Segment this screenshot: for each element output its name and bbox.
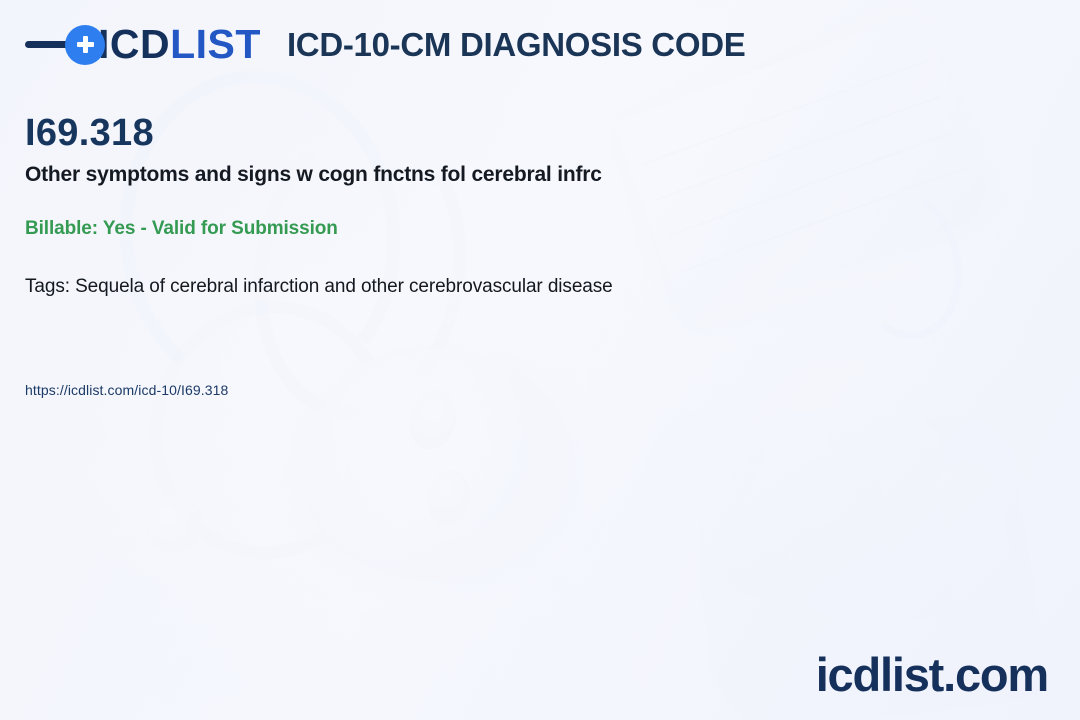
brand-wordmark-list: LIST <box>170 21 261 67</box>
footer-brand: icdlist.com <box>816 651 1048 698</box>
page-title: ICD-10-CM DIAGNOSIS CODE <box>287 26 746 64</box>
tags-line: Tags: Sequela of cerebral infarction and… <box>25 276 613 298</box>
brand-wordmark-icd: ICD <box>98 21 170 67</box>
diagnosis-description: Other symptoms and signs w cogn fnctns f… <box>25 163 613 187</box>
diagnosis-code-block: I69.318 Other symptoms and signs w cogn … <box>25 114 613 298</box>
diagnosis-code: I69.318 <box>25 114 613 154</box>
billable-status: Billable: Yes - Valid for Submission <box>25 218 613 240</box>
plus-circle-icon <box>65 25 105 65</box>
brand-wordmark: ICDLIST <box>98 24 261 65</box>
code-url[interactable]: https://icdlist.com/icd-10/I69.318 <box>25 382 228 398</box>
plus-vertical-bar <box>83 36 88 53</box>
page-header: ICDLIST ICD-10-CM DIAGNOSIS CODE <box>25 24 745 65</box>
icdlist-logo[interactable]: ICDLIST <box>25 24 261 65</box>
page-content: ICDLIST ICD-10-CM DIAGNOSIS CODE I69.318… <box>0 0 1080 720</box>
